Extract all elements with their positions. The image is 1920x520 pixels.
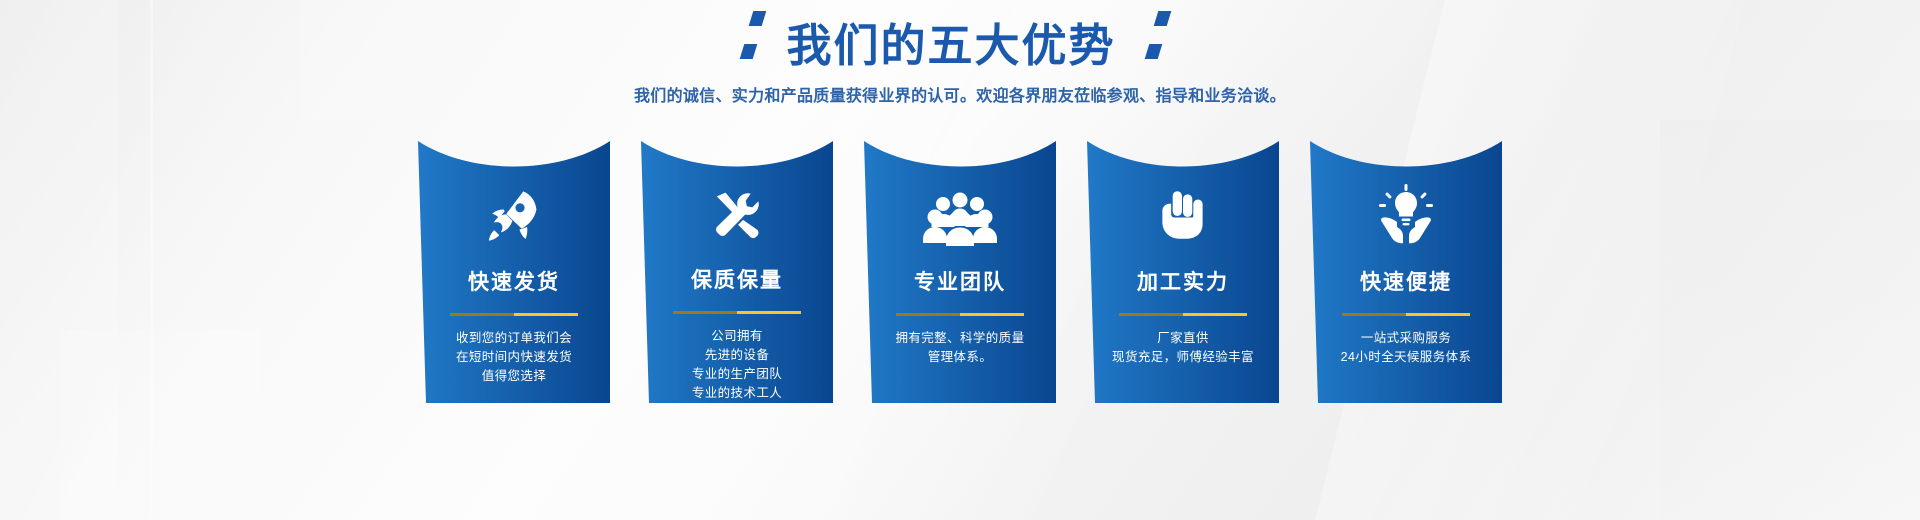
title-row: 我们的五大优势 [0,0,1920,72]
card-divider [1342,313,1470,316]
card-body-line: 现货充足，师傅经验丰富 [1112,348,1254,367]
card-title: 专业团队 [914,266,1006,296]
card-body-line: 收到您的订单我们会 [456,329,572,348]
page-title: 我们的五大优势 [786,20,1115,72]
advantage-card-2[interactable]: 保质保量 公司拥有 先进的设备 专业的生产团队 专业的技术工人 [641,141,833,403]
advantage-card-1[interactable]: 快速发货 收到您的订单我们会 在短时间内快速发货 值得您选择 [418,141,610,403]
advantage-card-3[interactable]: 专业团队 拥有完整、科学的质量 管理体系。 [864,141,1056,403]
card-body-line: 先进的设备 [692,346,782,365]
card-body: 公司拥有 先进的设备 专业的生产团队 专业的技术工人 [692,327,782,403]
card-body-line: 厂家直供 [1112,329,1254,348]
card-body: 一站式采购服务 24小时全天候服务体系 [1341,329,1472,367]
card-body-line: 公司拥有 [692,327,782,346]
page-subtitle: 我们的诚信、实力和产品质量获得业界的认可。欢迎各界朋友莅临参观、指导和业务洽谈。 [0,82,1920,106]
card-body-line: 值得您选择 [456,367,572,386]
rocket-icon [479,163,549,268]
card-body: 收到您的订单我们会 在短时间内快速发货 值得您选择 [456,329,572,386]
tools-icon [702,163,772,266]
hands-bulb-icon [1370,163,1442,268]
advantage-card-list: 快速发货 收到您的订单我们会 在短时间内快速发货 值得您选择 [0,141,1920,411]
advantage-card-4[interactable]: 加工实力 厂家直供 现货充足，师傅经验丰富 [1087,141,1279,403]
card-body-line: 在短时间内快速发货 [456,348,572,367]
banner-header: 我们的五大优势 我们的诚信、实力和产品质量获得业界的认可。欢迎各界朋友莅临参观、… [0,0,1920,106]
card-body-line: 24小时全天候服务体系 [1341,348,1472,367]
card-title: 快速发货 [468,266,560,296]
card-body: 拥有完整、科学的质量 管理体系。 [895,329,1024,367]
card-body-line: 专业的生产团队 [692,365,782,384]
card-body-line: 一站式采购服务 [1341,329,1472,348]
advantages-banner: 我们的五大优势 我们的诚信、实力和产品质量获得业界的认可。欢迎各界朋友莅临参观、… [0,0,1920,520]
team-icon [923,163,997,268]
title-decoration-left-icon [751,23,764,69]
card-body-line: 拥有完整、科学的质量 [895,329,1024,348]
card-divider [673,311,801,314]
card-body-line: 专业的技术工人 [692,384,782,403]
title-decoration-right-icon [1138,23,1169,69]
card-body: 厂家直供 现货充足，师傅经验丰富 [1112,329,1254,367]
card-divider [1119,313,1247,316]
advantage-card-5[interactable]: 快速便捷 一站式采购服务 24小时全天候服务体系 [1310,141,1502,403]
fist-icon [1150,163,1216,268]
card-title: 快速便捷 [1360,266,1452,296]
card-title: 保质保量 [691,264,783,294]
card-divider [896,313,1024,316]
card-body-line: 管理体系。 [895,348,1024,367]
card-title: 加工实力 [1137,266,1229,296]
card-divider [450,313,578,316]
